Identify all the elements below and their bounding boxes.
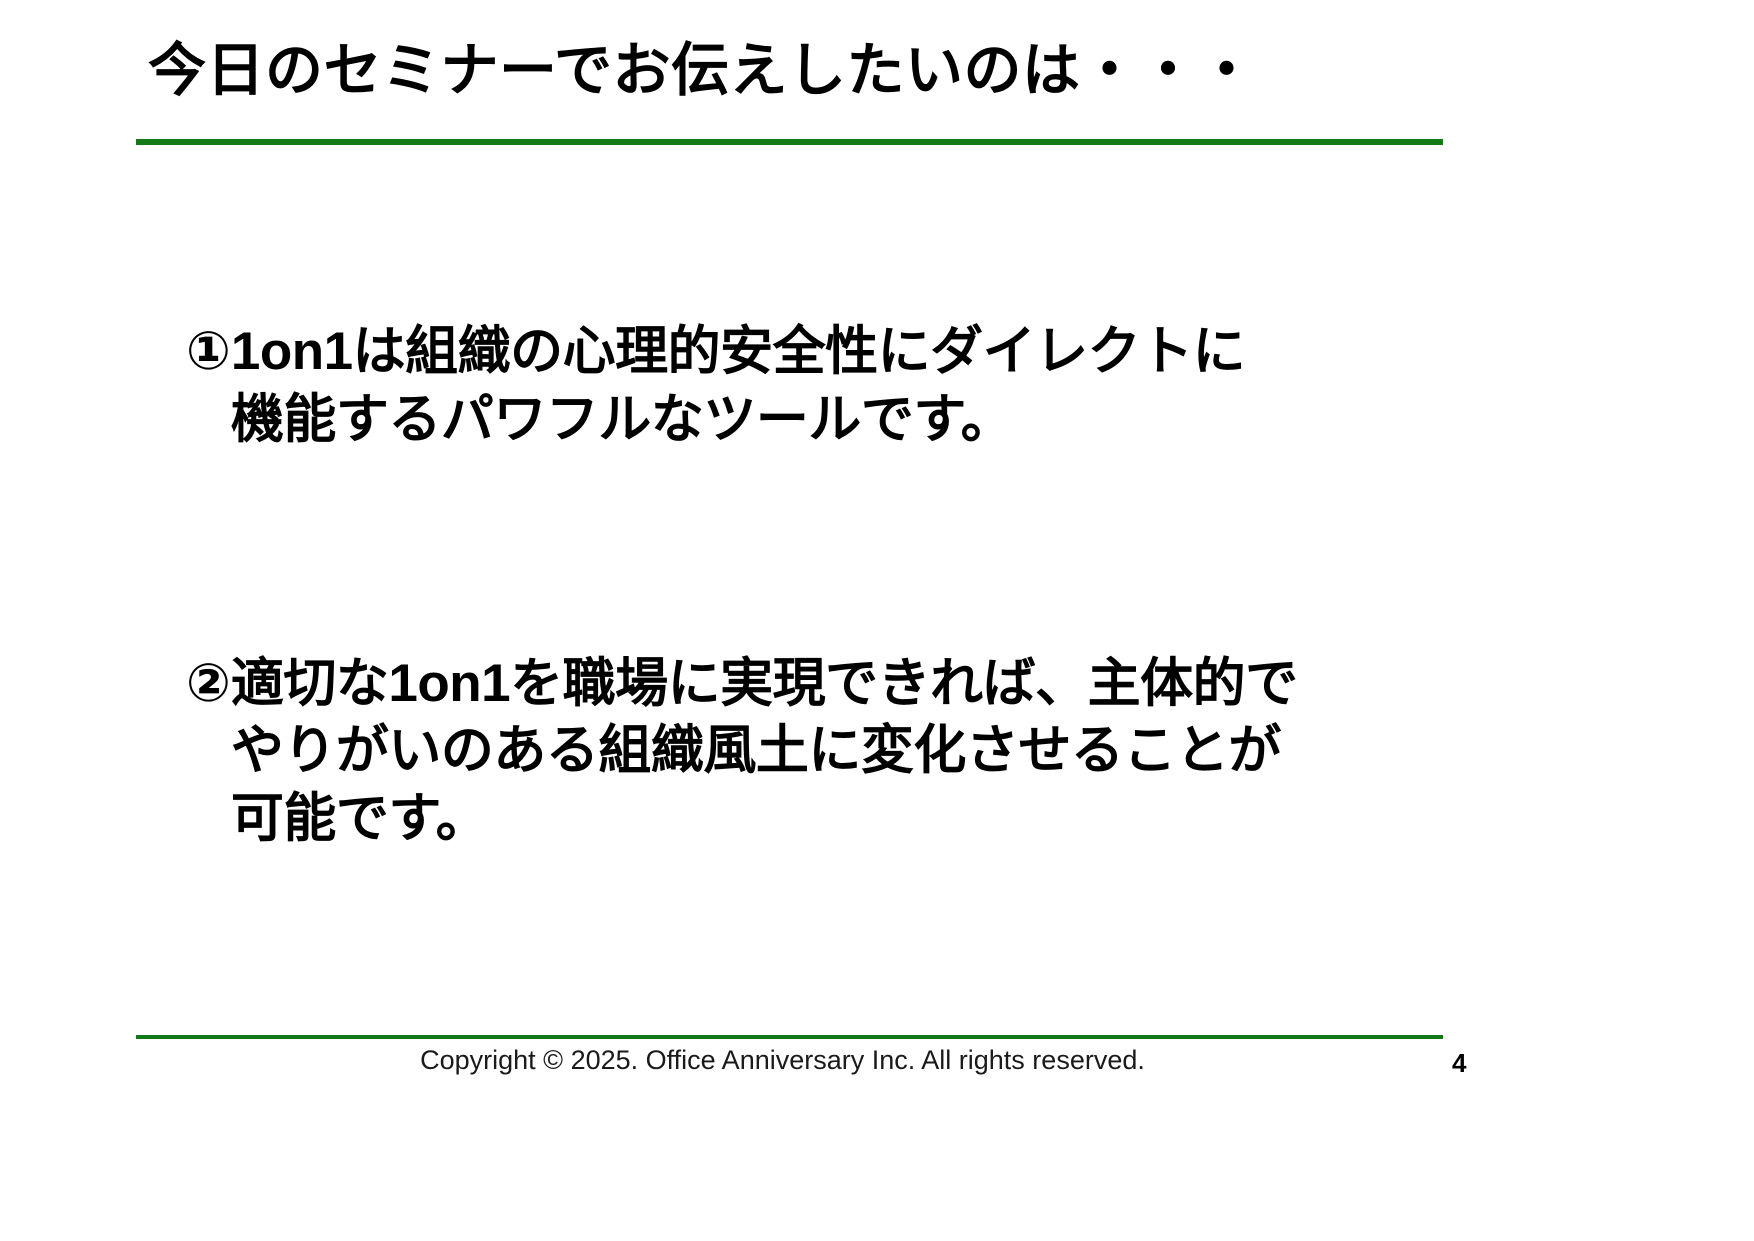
bullet-marker-1: ① bbox=[186, 318, 231, 386]
bullet-line: 可能です。 bbox=[231, 785, 1606, 853]
bullet-item-2: ② 適切な1on1を職場に実現できれば、主体的で やりがいのある組織風土に変化さ… bbox=[186, 650, 1606, 853]
bullet-marker-2: ② bbox=[186, 650, 231, 718]
copyright-notice: Copyright © 2025. Office Anniversary Inc… bbox=[0, 1045, 1565, 1076]
title-divider bbox=[136, 139, 1443, 145]
bullet-line: やりがいのある組織風土に変化させることが bbox=[231, 717, 1606, 785]
bullet-item-1: ① 1on1は組織の心理的安全性にダイレクトに 機能するパワフルなツールです。 bbox=[186, 318, 1606, 454]
bullet-text-2: 適切な1on1を職場に実現できれば、主体的で やりがいのある組織風土に変化させる… bbox=[231, 650, 1606, 853]
footer-divider bbox=[136, 1035, 1443, 1039]
bullet-text-1: 1on1は組織の心理的安全性にダイレクトに 機能するパワフルなツールです。 bbox=[231, 318, 1606, 454]
bullet-line: 1on1は組織の心理的安全性にダイレクトに bbox=[231, 318, 1606, 386]
body-content: ① 1on1は組織の心理的安全性にダイレクトに 機能するパワフルなツールです。 … bbox=[186, 318, 1606, 853]
page-title: 今日のセミナーでお伝えしたいのは・・・ bbox=[148, 38, 1608, 105]
bullet-spacer bbox=[186, 454, 1606, 650]
bullet-line: 適切な1on1を職場に実現できれば、主体的で bbox=[231, 650, 1606, 718]
page-number: 4 bbox=[1452, 1048, 1512, 1079]
slide-canvas: 今日のセミナーでお伝えしたいのは・・・ ① 1on1は組織の心理的安全性にダイレ… bbox=[0, 0, 1754, 1241]
bullet-line: 機能するパワフルなツールです。 bbox=[231, 386, 1606, 454]
title-block: 今日のセミナーでお伝えしたいのは・・・ bbox=[148, 38, 1608, 105]
